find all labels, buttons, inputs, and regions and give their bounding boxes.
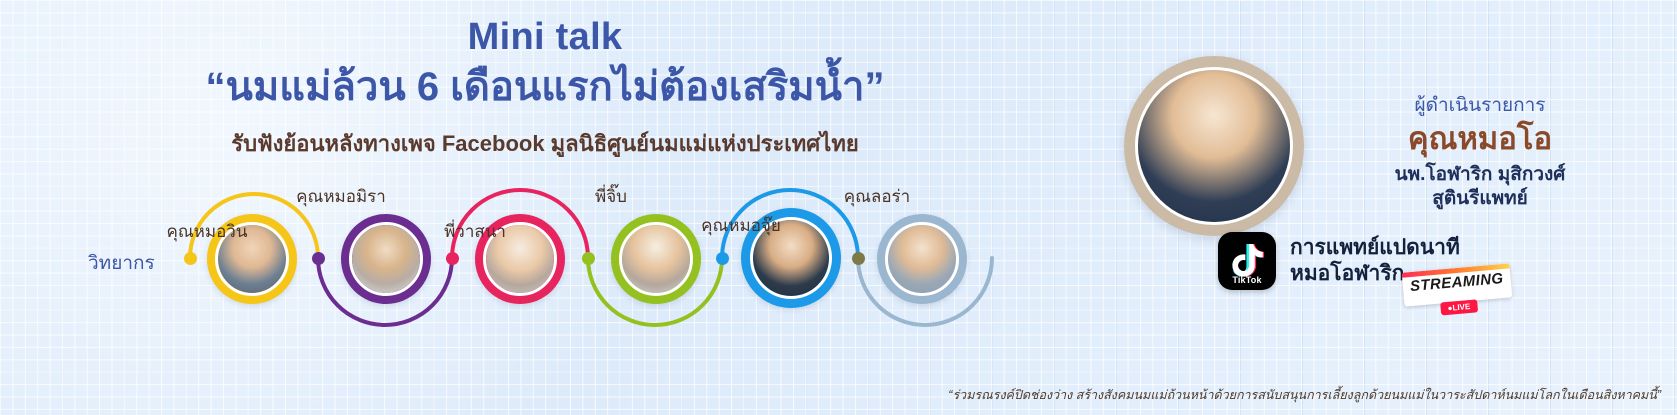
connector-dot-4 xyxy=(582,252,595,265)
tiktok-channel-line1: การแพทย์แปดนาที xyxy=(1290,235,1460,261)
speaker-label-3: พี่วาสนา xyxy=(360,218,590,245)
connector-dot-6 xyxy=(852,252,865,265)
connector-dot-1 xyxy=(184,252,197,265)
speaker-label-4: พี่จิ๊บ xyxy=(496,183,726,210)
banner-root: Mini talk “นมแม่ล้วน 6 เดือนแรกไม่ต้องเส… xyxy=(0,0,1677,415)
speakers-section-label: วิทยากร xyxy=(88,248,155,278)
live-badge: ●LIVE xyxy=(1440,299,1478,315)
speaker-label-2: คุณหมอมิรา xyxy=(226,183,456,210)
headline-subtitle: รับฟังย้อนหลังทางเพจ Facebook มูลนิธิศูน… xyxy=(0,126,1090,161)
host-avatar xyxy=(1124,56,1304,236)
headline-quote: “นมแม่ล้วน 6 เดือนแรกไม่ต้องเสริมน้ำ” xyxy=(0,65,1090,110)
host-nickname: คุณหมอโอ xyxy=(1300,122,1660,156)
connector-dot-2 xyxy=(312,252,325,265)
connector-dot-5 xyxy=(716,252,729,265)
host-photo-frame xyxy=(1135,67,1293,225)
speaker-label-6: คุณลอร่า xyxy=(762,183,992,210)
host-info: ผู้ดำเนินรายการ คุณหมอโอ นพ.โอฬาริก มุสิ… xyxy=(1300,90,1660,211)
headline-block: Mini talk “นมแม่ล้วน 6 เดือนแรกไม่ต้องเส… xyxy=(0,18,1090,161)
speaker-chain: วิทยากร คุณหมอวิน คุณหมอมิรา xyxy=(0,176,1060,356)
speaker-label-5: คุณหมอจุ๊ย xyxy=(626,212,856,239)
speaker-avatar-6 xyxy=(888,225,956,293)
tiktok-wordmark: TikTok xyxy=(1232,275,1261,285)
tiktok-icon[interactable]: TikTok xyxy=(1218,232,1276,290)
speaker-ring-6 xyxy=(877,214,967,304)
connector-dot-3 xyxy=(446,252,459,265)
host-full-name: นพ.โอฬาริก มุสิกวงศ์ xyxy=(1300,163,1660,187)
host-specialty: สูตินรีแพทย์ xyxy=(1300,187,1660,211)
footer-note: “ร่วมรณรงค์ปิดช่องว่าง สร้างสังคมนมแม่ถ้… xyxy=(836,385,1661,405)
page-title: Mini talk xyxy=(0,18,1090,58)
speaker-label-1: คุณหมอวิน xyxy=(92,218,322,245)
host-photo xyxy=(1138,70,1290,222)
speaker-photo-frame-6 xyxy=(885,222,959,296)
host-role-label: ผู้ดำเนินรายการ xyxy=(1300,90,1660,120)
